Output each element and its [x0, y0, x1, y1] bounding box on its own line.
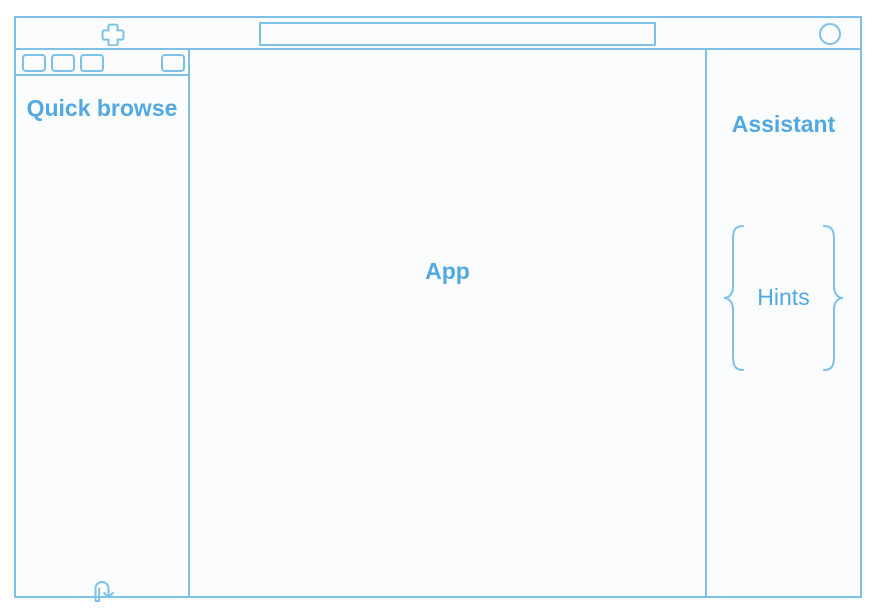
plus-icon[interactable] — [101, 22, 125, 46]
top-bar — [16, 18, 860, 50]
hints-label: Hints — [747, 284, 819, 311]
quick-browse-toolbar — [16, 50, 188, 76]
toolbar-chip-2[interactable] — [51, 54, 75, 72]
search-input[interactable] — [259, 22, 656, 46]
circle-avatar-icon[interactable] — [819, 23, 841, 45]
u-turn-arrow-icon[interactable] — [90, 576, 120, 606]
app-title: App — [190, 257, 705, 286]
quick-browse-panel: Quick browse — [16, 50, 190, 596]
app-panel: App — [190, 50, 707, 596]
hints-block: Hints — [707, 220, 860, 375]
assistant-panel: Assistant Hints — [707, 50, 860, 596]
toolbar-chip-3[interactable] — [80, 54, 104, 72]
left-brace-icon — [721, 223, 747, 373]
wireframe-window: Quick browse App Assistant Hints — [14, 16, 862, 598]
right-brace-icon — [820, 223, 846, 373]
assistant-title: Assistant — [707, 110, 860, 139]
toolbar-chip-4[interactable] — [161, 54, 185, 72]
toolbar-chip-1[interactable] — [22, 54, 46, 72]
quick-browse-title: Quick browse — [16, 94, 188, 123]
